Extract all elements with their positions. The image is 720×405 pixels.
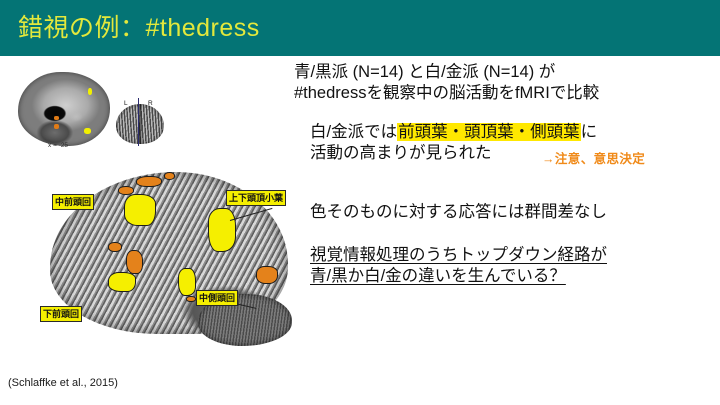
hemisphere-label-right: R	[148, 100, 153, 107]
hemisphere-label-left: L	[124, 100, 128, 107]
brain-label-parietal-lobule: 上下頭頂小葉	[226, 190, 286, 206]
question-line-1: 視覚情報処理のうちトップダウン経路が	[310, 245, 714, 266]
mri-activation-blob-orange	[54, 124, 59, 129]
page-title: 錯視の例：#thedress	[18, 11, 260, 45]
activation-blob-orange	[164, 172, 175, 180]
activation-blob-orange	[108, 242, 122, 252]
activation-blob-yellow-middle-temporal	[178, 268, 196, 296]
finding-highlight: 前頭葉・頭頂葉・側頭葉	[397, 123, 581, 141]
mri-activation-blob-yellow	[88, 88, 92, 95]
paragraph-question: 視覚情報処理のうちトップダウン経路が 青/黒か白/金の違いを生んでいる？	[310, 245, 714, 287]
mri-activation-blob-yellow	[84, 128, 91, 134]
finding-prefix: 白/金派では	[310, 123, 397, 141]
sagittal-mri-slice-image	[18, 72, 110, 146]
question-line-2: 青/黒か白/金の違いを生んでいる？	[310, 266, 714, 287]
method-line-2: #thedressを観察中の脳活動をfMRIで比較	[294, 84, 599, 102]
mri-slice-panel: x = -25 L R	[6, 72, 171, 154]
paragraph-no-difference: 色そのものに対する応答には群間差なし	[310, 202, 714, 223]
paragraph-method: 青/黒派 (N=14) と白/金派 (N=14) が #thedressを観察中…	[294, 62, 714, 104]
activation-blob-yellow-middle-frontal	[124, 194, 156, 226]
leader-line-parietal	[230, 208, 273, 221]
activation-blob-yellow-parietal	[208, 208, 236, 252]
coronal-crosshair-line	[138, 98, 139, 146]
source-citation: (Schlaffke et al., 2015)	[8, 377, 118, 389]
finding-suffix: に	[581, 123, 598, 141]
brain-surface-figure: 中前頭回 上下頭頂小葉 下前頭回 中側頭回	[38, 166, 298, 366]
finding-line-2: 活動の高まりが見られた	[310, 144, 492, 162]
activation-blob-orange	[186, 296, 196, 302]
slice-coordinate-label: x = -25	[48, 142, 68, 149]
brain-label-inferior-frontal-gyrus: 下前頭回	[40, 306, 82, 322]
method-line-1: 青/黒派 (N=14) と白/金派 (N=14) が	[294, 63, 555, 81]
activation-blob-orange	[126, 250, 143, 274]
coronal-mri-slice-image	[116, 104, 164, 144]
slide-body-text: 青/黒派 (N=14) と白/金派 (N=14) が #thedressを観察中…	[294, 62, 714, 287]
activation-blob-orange	[136, 176, 162, 187]
brain-label-middle-frontal-gyrus: 中前頭回	[52, 194, 94, 210]
annotation-row: →注意、意思決定	[310, 168, 714, 188]
activation-blob-yellow-inferior-frontal	[108, 272, 136, 292]
annotation-attention-decision: →注意、意思決定	[542, 148, 645, 167]
mri-activation-blob-orange	[54, 116, 59, 120]
activation-blob-orange	[256, 266, 278, 284]
paragraph-finding: 白/金派では前頭葉・頭頂葉・側頭葉に 活動の高まりが見られた	[310, 122, 714, 164]
brain-label-middle-temporal-gyrus: 中側頭回	[196, 290, 238, 306]
